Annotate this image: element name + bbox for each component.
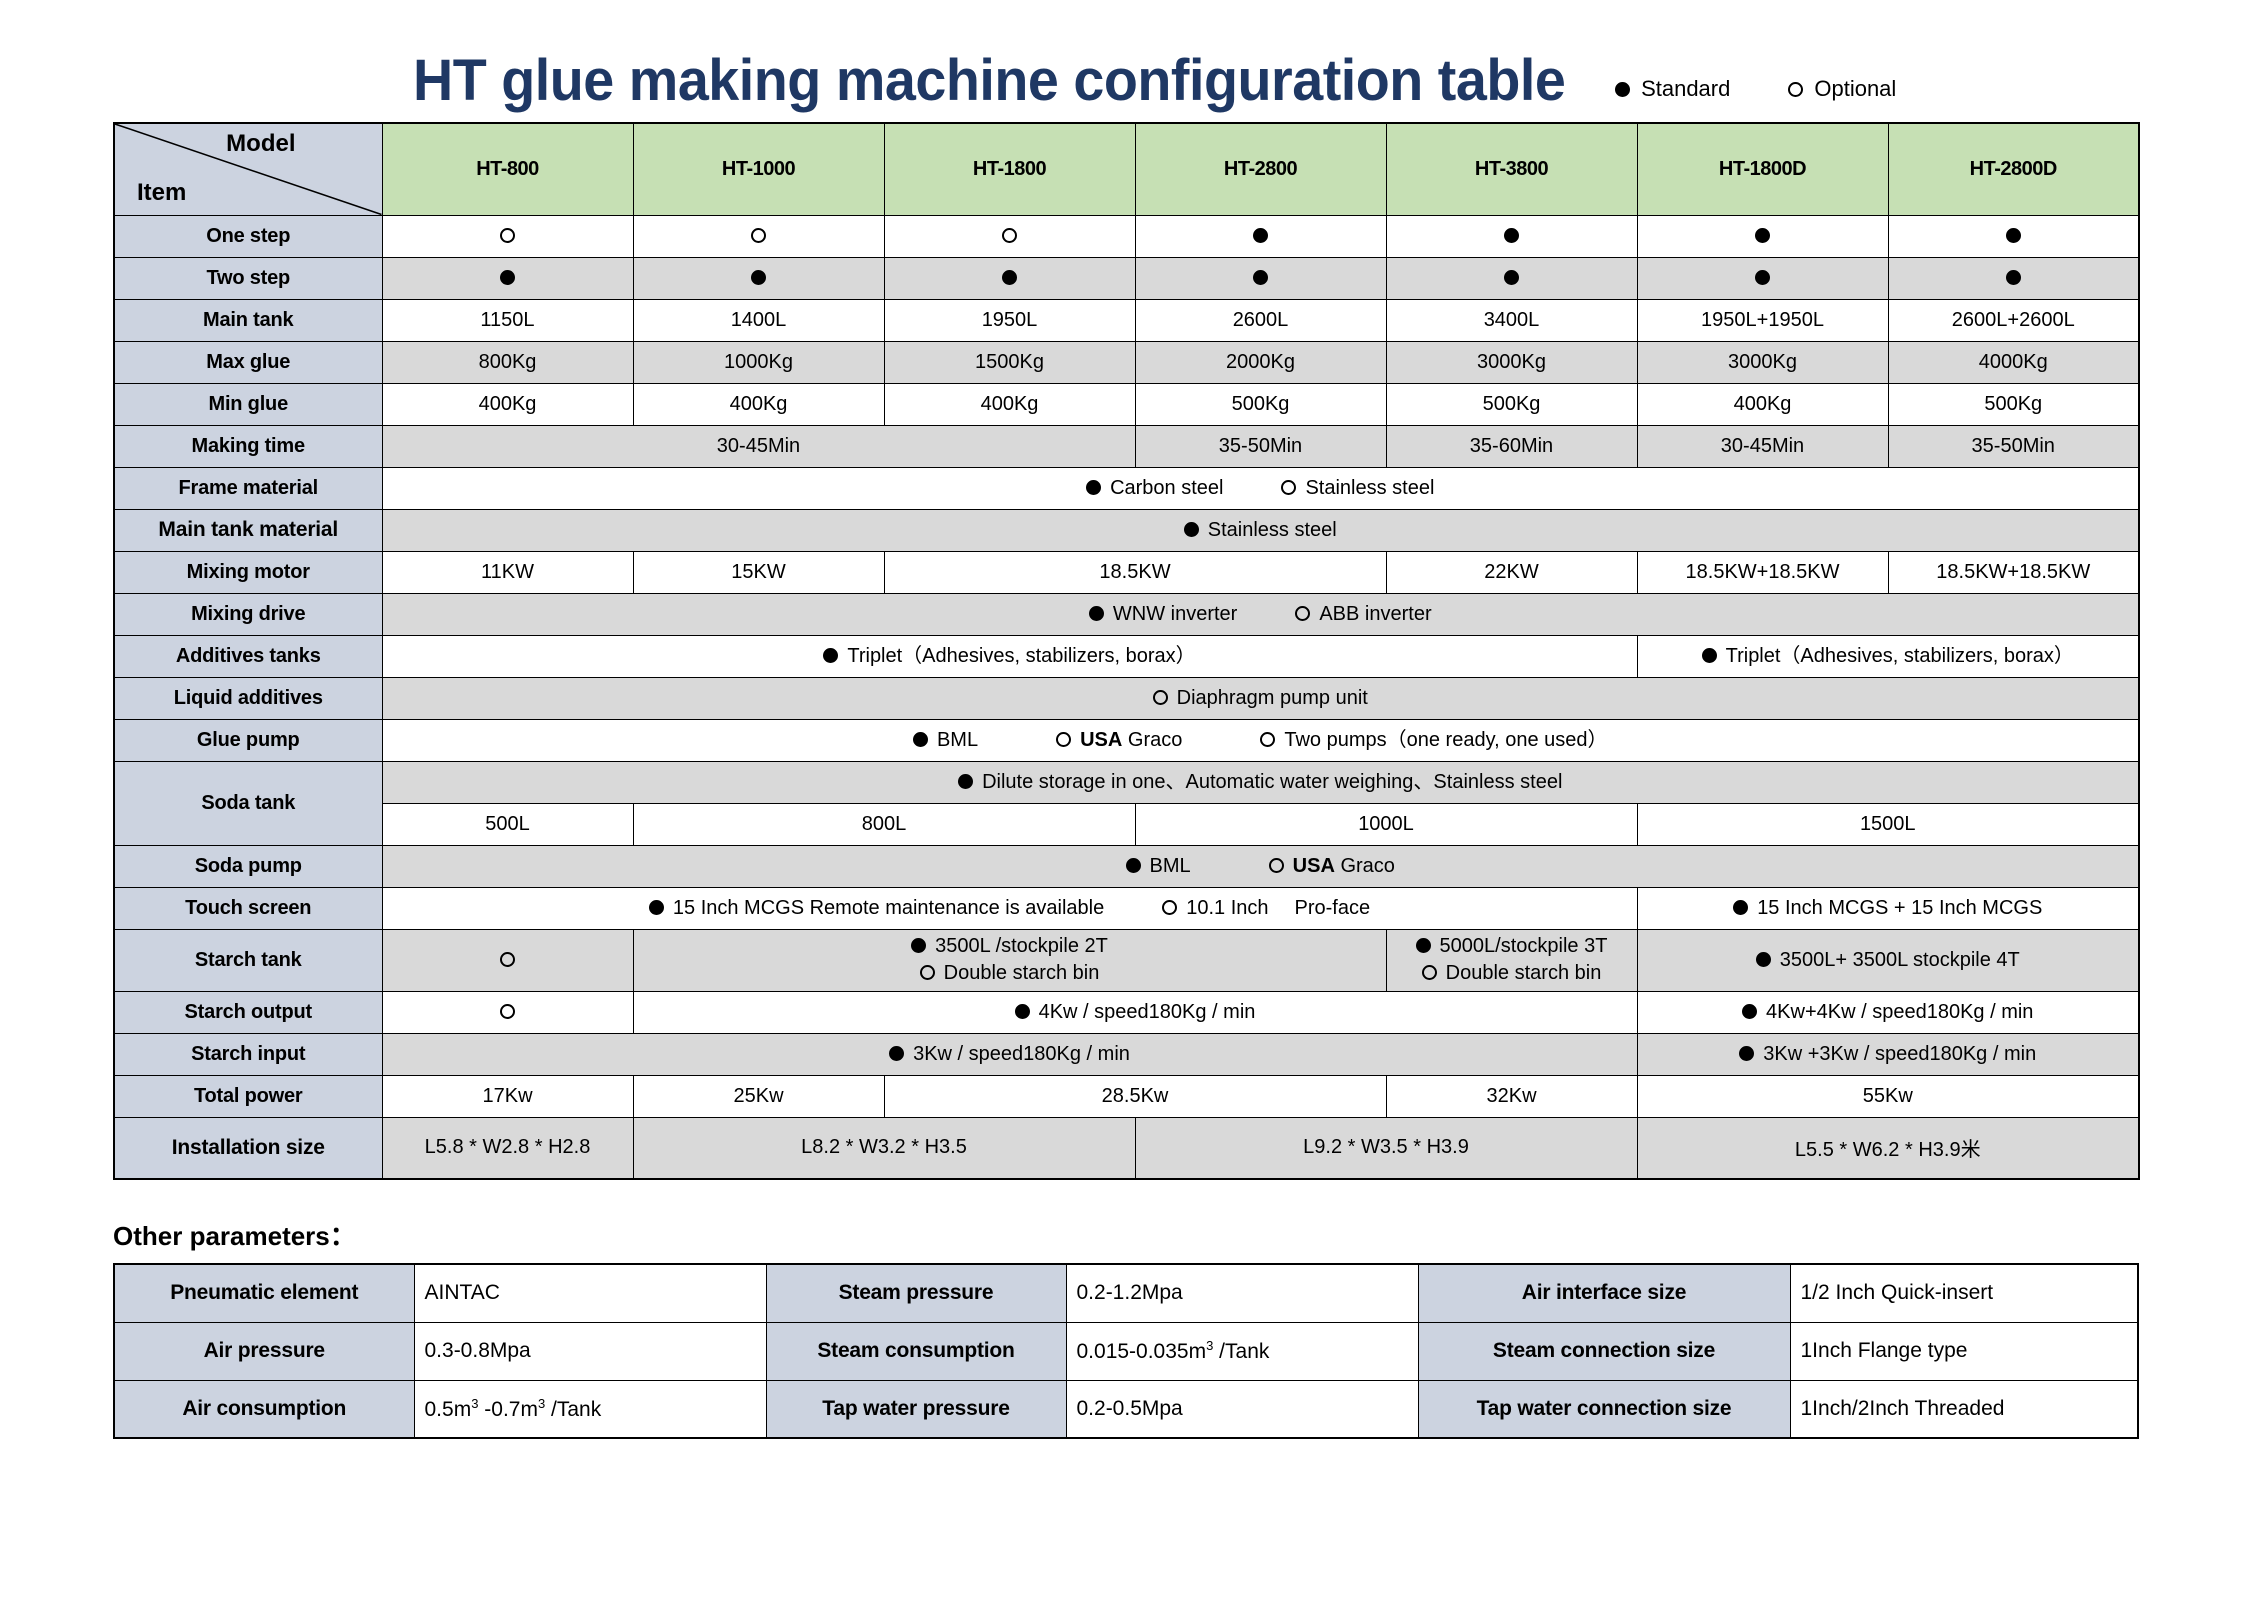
filled-circle-icon bbox=[911, 938, 926, 953]
filled-circle-icon bbox=[1755, 228, 1770, 243]
other-key-pneumatic-element: Pneumatic element bbox=[114, 1264, 414, 1322]
table-row-liquid-additives: Liquid additives Diaphragm pump unit bbox=[114, 677, 2139, 719]
other-row-2: Air pressure 0.3-0.8Mpa Steam consumptio… bbox=[114, 1322, 2138, 1380]
cell-min-glue-ht-2800: 500Kg bbox=[1135, 383, 1386, 425]
other-value-steam-pressure: 0.2-1.2Mpa bbox=[1066, 1264, 1418, 1322]
other-key-tap-water-pressure: Tap water pressure bbox=[766, 1380, 1066, 1438]
filled-circle-icon bbox=[913, 732, 928, 747]
row-label-mixing-motor: Mixing motor bbox=[114, 551, 382, 593]
filled-circle-icon bbox=[1755, 270, 1770, 285]
cell-installation-size-group-d: L5.5 * W6.2 * H3.9米 bbox=[1637, 1117, 2139, 1179]
cell-mixing-motor-ht-2800d: 18.5KW+18.5KW bbox=[1888, 551, 2139, 593]
cell-max-glue-ht-1800d: 3000Kg bbox=[1637, 341, 1888, 383]
cell-min-glue-ht-3800: 500Kg bbox=[1386, 383, 1637, 425]
open-circle-icon bbox=[1422, 965, 1437, 980]
other-value-tap-water-pressure: 0.2-0.5Mpa bbox=[1066, 1380, 1418, 1438]
additives-tanks-left-text: Triplet（Adhesives, stabilizers, borax） bbox=[847, 645, 1195, 667]
page-title: HT glue making machine configuration tab… bbox=[413, 52, 1565, 110]
starch-tank-right-text: 3500L+ 3500L stockpile 4T bbox=[1780, 949, 2020, 971]
filled-circle-icon bbox=[1184, 522, 1199, 537]
cell-max-glue-ht-2800: 2000Kg bbox=[1135, 341, 1386, 383]
cell-mixing-motor-ht-3800: 22KW bbox=[1386, 551, 1637, 593]
cell-starch-tank-right: 3500L+ 3500L stockpile 4T bbox=[1637, 929, 2139, 991]
model-header-ht-1800: HT-1800 bbox=[884, 123, 1135, 215]
cell-max-glue-ht-1000: 1000Kg bbox=[633, 341, 884, 383]
starch-tank-mid-line-1: 3500L /stockpile 2T bbox=[935, 935, 1108, 957]
filled-circle-icon bbox=[1416, 938, 1431, 953]
open-circle-icon bbox=[1281, 480, 1296, 495]
cell-max-glue-ht-2800d: 4000Kg bbox=[1888, 341, 2139, 383]
cell-installation-size-ht-800: L5.8 * W2.8 * H2.8 bbox=[382, 1117, 633, 1179]
cell-additives-tanks-right: Triplet（Adhesives, stabilizers, borax） bbox=[1637, 635, 2139, 677]
filled-circle-icon bbox=[1015, 1004, 1030, 1019]
other-value-air-interface-size: 1/2 Inch Quick-insert bbox=[1790, 1264, 2138, 1322]
table-row-additives-tanks: Additives tanks Triplet（Adhesives, stabi… bbox=[114, 635, 2139, 677]
soda-pump-option-bml: BML bbox=[1150, 855, 1191, 877]
filled-circle-icon bbox=[958, 774, 973, 789]
touch-screen-right-text: 15 Inch MCGS + 15 Inch MCGS bbox=[1757, 897, 2042, 919]
table-row-one-step: One step bbox=[114, 215, 2139, 257]
legend-item-standard: Standard bbox=[1615, 76, 1730, 102]
table-row-starch-output: Starch output 4Kw / speed180Kg / min 4Kw… bbox=[114, 991, 2139, 1033]
cell-starch-input-middle: 3Kw / speed180Kg / min bbox=[382, 1033, 1637, 1075]
other-key-steam-connection-size: Steam connection size bbox=[1418, 1322, 1790, 1380]
open-circle-icon bbox=[1056, 732, 1071, 747]
cell-main-tank-ht-1800: 1950L bbox=[884, 299, 1135, 341]
cell-two-step-ht-2800 bbox=[1135, 257, 1386, 299]
cell-max-glue-ht-800: 800Kg bbox=[382, 341, 633, 383]
cell-one-step-ht-2800d bbox=[1888, 215, 2139, 257]
cell-total-power-group-1800-2800: 28.5Kw bbox=[884, 1075, 1386, 1117]
table-row-glue-pump: Glue pump BMLUSA GracoTwo pumps（one read… bbox=[114, 719, 2139, 761]
legend-label-optional: Optional bbox=[1814, 76, 1896, 102]
legend-item-optional: Optional bbox=[1788, 76, 1896, 102]
cell-main-tank-ht-3800: 3400L bbox=[1386, 299, 1637, 341]
other-value-steam-consumption: 0.015-0.035m3 /Tank bbox=[1066, 1322, 1418, 1380]
starch-tank-3800-line-1: 5000L/stockpile 3T bbox=[1440, 935, 1608, 957]
open-circle-icon bbox=[1788, 82, 1803, 97]
additives-tanks-right-text: Triplet（Adhesives, stabilizers, borax） bbox=[1726, 645, 2074, 667]
row-label-frame-material: Frame material bbox=[114, 467, 382, 509]
filled-circle-icon bbox=[1756, 952, 1771, 967]
cell-installation-size-group-2800-3800: L9.2 * W3.5 * H3.9 bbox=[1135, 1117, 1637, 1179]
open-circle-icon bbox=[1260, 732, 1275, 747]
open-circle-icon bbox=[920, 965, 935, 980]
row-label-starch-input: Starch input bbox=[114, 1033, 382, 1075]
cell-one-step-ht-1800 bbox=[884, 215, 1135, 257]
filled-circle-icon bbox=[1086, 480, 1101, 495]
cell-two-step-ht-3800 bbox=[1386, 257, 1637, 299]
cell-starch-output-ht-800 bbox=[382, 991, 633, 1033]
other-value-air-pressure: 0.3-0.8Mpa bbox=[414, 1322, 766, 1380]
filled-circle-icon bbox=[1504, 270, 1519, 285]
open-circle-icon bbox=[500, 1004, 515, 1019]
cell-one-step-ht-800 bbox=[382, 215, 633, 257]
other-row-3: Air consumption 0.5m3 -0.7m3 /Tank Tap w… bbox=[114, 1380, 2138, 1438]
open-circle-icon bbox=[500, 952, 515, 967]
filled-circle-icon bbox=[1253, 270, 1268, 285]
cell-max-glue-ht-3800: 3000Kg bbox=[1386, 341, 1637, 383]
title-row: HT glue making machine configuration tab… bbox=[0, 0, 2245, 110]
other-key-steam-pressure: Steam pressure bbox=[766, 1264, 1066, 1322]
table-row-main-tank: Main tank 1150L 1400L 1950L 2600L 3400L … bbox=[114, 299, 2139, 341]
header-label-model: Model bbox=[226, 130, 295, 158]
open-circle-icon bbox=[751, 228, 766, 243]
row-label-main-tank: Main tank bbox=[114, 299, 382, 341]
model-header-ht-3800: HT-3800 bbox=[1386, 123, 1637, 215]
row-label-max-glue: Max glue bbox=[114, 341, 382, 383]
cell-soda-tank-group-2800-3800: 1000L bbox=[1135, 803, 1637, 845]
filled-circle-icon bbox=[1702, 648, 1717, 663]
cell-mixing-motor-ht-1000: 15KW bbox=[633, 551, 884, 593]
cell-total-power-ht-3800: 32Kw bbox=[1386, 1075, 1637, 1117]
soda-tank-description-text: Dilute storage in one、Automatic water we… bbox=[982, 771, 1562, 793]
table-row-main-tank-material: Main tank material Stainless steel bbox=[114, 509, 2139, 551]
legend: Standard Optional bbox=[1615, 76, 1896, 110]
cell-mixing-motor-group-1800-2800: 18.5KW bbox=[884, 551, 1386, 593]
cell-min-glue-ht-800: 400Kg bbox=[382, 383, 633, 425]
filled-circle-icon bbox=[1002, 270, 1017, 285]
open-circle-icon bbox=[1153, 690, 1168, 705]
cell-max-glue-ht-1800: 1500Kg bbox=[884, 341, 1135, 383]
cell-main-tank-ht-1800d: 1950L+1950L bbox=[1637, 299, 1888, 341]
row-label-soda-pump: Soda pump bbox=[114, 845, 382, 887]
model-header-ht-1000: HT-1000 bbox=[633, 123, 884, 215]
header-label-item: Item bbox=[137, 179, 186, 207]
cell-starch-tank-ht-800 bbox=[382, 929, 633, 991]
starch-tank-mid-line-2: Double starch bin bbox=[944, 962, 1100, 984]
filled-circle-icon bbox=[1733, 900, 1748, 915]
cell-two-step-ht-1000 bbox=[633, 257, 884, 299]
main-tank-material-option-stainless-steel: Stainless steel bbox=[1208, 519, 1337, 541]
cell-one-step-ht-2800 bbox=[1135, 215, 1386, 257]
filled-circle-icon bbox=[1615, 82, 1630, 97]
cell-main-tank-material: Stainless steel bbox=[382, 509, 2139, 551]
cell-mixing-motor-ht-1800d: 18.5KW+18.5KW bbox=[1637, 551, 1888, 593]
table-row-frame-material: Frame material Carbon steelStainless ste… bbox=[114, 467, 2139, 509]
row-label-starch-output: Starch output bbox=[114, 991, 382, 1033]
air-consumption-c: /Tank bbox=[545, 1398, 601, 1421]
other-key-steam-consumption: Steam consumption bbox=[766, 1322, 1066, 1380]
cell-touch-screen-right: 15 Inch MCGS + 15 Inch MCGS bbox=[1637, 887, 2139, 929]
cell-additives-tanks-left: Triplet（Adhesives, stabilizers, borax） bbox=[382, 635, 1637, 677]
open-circle-icon bbox=[1269, 858, 1284, 873]
table-row-soda-tank-desc: Soda tank Dilute storage in one、Automati… bbox=[114, 761, 2139, 803]
other-key-air-pressure: Air pressure bbox=[114, 1322, 414, 1380]
soda-pump-option-usa: USA bbox=[1293, 855, 1335, 877]
table-row-soda-tank-capacity: 500L 800L 1000L 1500L bbox=[114, 803, 2139, 845]
cell-main-tank-ht-800: 1150L bbox=[382, 299, 633, 341]
cell-main-tank-ht-1000: 1400L bbox=[633, 299, 884, 341]
cell-soda-tank-ht-800: 500L bbox=[382, 803, 633, 845]
cell-min-glue-ht-2800d: 500Kg bbox=[1888, 383, 2139, 425]
table-row-touch-screen: Touch screen 15 Inch MCGS Remote mainten… bbox=[114, 887, 2139, 929]
starch-input-right-text: 3Kw +3Kw / speed180Kg / min bbox=[1763, 1043, 2036, 1065]
cell-making-time-group-1: 30-45Min bbox=[382, 425, 1135, 467]
filled-circle-icon bbox=[1739, 1046, 1754, 1061]
cell-mixing-motor-ht-800: 11KW bbox=[382, 551, 633, 593]
model-header-ht-2800: HT-2800 bbox=[1135, 123, 1386, 215]
cell-two-step-ht-2800d bbox=[1888, 257, 2139, 299]
cell-total-power-ht-800: 17Kw bbox=[382, 1075, 633, 1117]
touch-screen-option-101inch: 10.1 Inch bbox=[1186, 897, 1268, 919]
filled-circle-icon bbox=[823, 648, 838, 663]
cell-soda-tank-description: Dilute storage in one、Automatic water we… bbox=[382, 761, 2139, 803]
row-label-two-step: Two step bbox=[114, 257, 382, 299]
row-label-min-glue: Min glue bbox=[114, 383, 382, 425]
cell-two-step-ht-1800 bbox=[884, 257, 1135, 299]
starch-tank-3800-line-2: Double starch bin bbox=[1446, 962, 1602, 984]
cell-making-time-ht-3800: 35-60Min bbox=[1386, 425, 1637, 467]
cell-installation-size-group-1000-1800: L8.2 * W3.2 * H3.5 bbox=[633, 1117, 1135, 1179]
legend-label-standard: Standard bbox=[1641, 76, 1730, 102]
cell-making-time-ht-2800d: 35-50Min bbox=[1888, 425, 2139, 467]
frame-material-option-carbon-steel: Carbon steel bbox=[1110, 477, 1223, 499]
table-row-installation-size: Installation size L5.8 * W2.8 * H2.8 L8.… bbox=[114, 1117, 2139, 1179]
cell-mixing-drive: WNW inverterABB inverter bbox=[382, 593, 2139, 635]
filled-circle-icon bbox=[2006, 228, 2021, 243]
other-key-air-consumption: Air consumption bbox=[114, 1380, 414, 1438]
cell-min-glue-ht-1000: 400Kg bbox=[633, 383, 884, 425]
steam-consumption-post: /Tank bbox=[1213, 1340, 1269, 1363]
row-label-additives-tanks: Additives tanks bbox=[114, 635, 382, 677]
table-row-two-step: Two step bbox=[114, 257, 2139, 299]
cell-one-step-ht-1800d bbox=[1637, 215, 1888, 257]
steam-consumption-pre: 0.015-0.035m bbox=[1077, 1340, 1207, 1363]
open-circle-icon bbox=[1162, 900, 1177, 915]
touch-screen-option-mcgs: 15 Inch MCGS Remote maintenance is avail… bbox=[673, 897, 1104, 919]
row-label-glue-pump: Glue pump bbox=[114, 719, 382, 761]
cell-making-time-ht-1800d: 30-45Min bbox=[1637, 425, 1888, 467]
cell-starch-tank-middle: 3500L /stockpile 2T Double starch bin bbox=[633, 929, 1386, 991]
model-header-ht-800: HT-800 bbox=[382, 123, 633, 215]
other-key-air-interface-size: Air interface size bbox=[1418, 1264, 1790, 1322]
other-value-steam-connection-size: 1Inch Flange type bbox=[1790, 1322, 2138, 1380]
header-corner-cell: Model Item bbox=[114, 123, 382, 215]
filled-circle-icon bbox=[1126, 858, 1141, 873]
open-circle-icon bbox=[500, 228, 515, 243]
cell-touch-screen-left: 15 Inch MCGS Remote maintenance is avail… bbox=[382, 887, 1637, 929]
filled-circle-icon bbox=[751, 270, 766, 285]
mixing-drive-option-abb: ABB inverter bbox=[1319, 603, 1431, 625]
cell-starch-output-middle: 4Kw / speed180Kg / min bbox=[633, 991, 1637, 1033]
cell-total-power-ht-1000: 25Kw bbox=[633, 1075, 884, 1117]
row-label-total-power: Total power bbox=[114, 1075, 382, 1117]
cell-two-step-ht-800 bbox=[382, 257, 633, 299]
row-label-starch-tank: Starch tank bbox=[114, 929, 382, 991]
air-consumption-a: 0.5m bbox=[425, 1398, 472, 1421]
table-row-starch-tank: Starch tank 3500L /stockpile 2T Double s… bbox=[114, 929, 2139, 991]
cell-min-glue-ht-1800: 400Kg bbox=[884, 383, 1135, 425]
filled-circle-icon bbox=[2006, 270, 2021, 285]
model-header-ht-2800d: HT-2800D bbox=[1888, 123, 2139, 215]
cell-soda-tank-group-1000-1800: 800L bbox=[633, 803, 1135, 845]
table-row-max-glue: Max glue 800Kg 1000Kg 1500Kg 2000Kg 3000… bbox=[114, 341, 2139, 383]
cell-making-time-ht-2800: 35-50Min bbox=[1135, 425, 1386, 467]
other-parameters-table: Pneumatic element AINTAC Steam pressure … bbox=[113, 1263, 2139, 1439]
glue-pump-option-two-pumps: Two pumps（one ready, one used） bbox=[1284, 729, 1607, 751]
table-row-total-power: Total power 17Kw 25Kw 28.5Kw 32Kw 55Kw bbox=[114, 1075, 2139, 1117]
table-row-making-time: Making time 30-45Min 35-50Min 35-60Min 3… bbox=[114, 425, 2139, 467]
configuration-table: Model Item HT-800 HT-1000 HT-1800 HT-280… bbox=[113, 122, 2140, 1180]
cell-two-step-ht-1800d bbox=[1637, 257, 1888, 299]
cell-starch-tank-ht-3800: 5000L/stockpile 3T Double starch bin bbox=[1386, 929, 1637, 991]
row-label-main-tank-material: Main tank material bbox=[114, 509, 382, 551]
liquid-additives-option-diaphragm: Diaphragm pump unit bbox=[1177, 687, 1368, 709]
configuration-table-wrap: Model Item HT-800 HT-1000 HT-1800 HT-280… bbox=[0, 110, 2245, 1180]
filled-circle-icon bbox=[889, 1046, 904, 1061]
table-row-starch-input: Starch input 3Kw / speed180Kg / min 3Kw … bbox=[114, 1033, 2139, 1075]
cell-min-glue-ht-1800d: 400Kg bbox=[1637, 383, 1888, 425]
cell-frame-material: Carbon steelStainless steel bbox=[382, 467, 2139, 509]
cell-soda-tank-group-d: 1500L bbox=[1637, 803, 2139, 845]
cell-soda-pump: BMLUSA Graco bbox=[382, 845, 2139, 887]
filled-circle-icon bbox=[500, 270, 515, 285]
filled-circle-icon bbox=[1742, 1004, 1757, 1019]
model-header-ht-1800d: HT-1800D bbox=[1637, 123, 1888, 215]
starch-input-mid-text: 3Kw / speed180Kg / min bbox=[913, 1043, 1130, 1065]
row-label-touch-screen: Touch screen bbox=[114, 887, 382, 929]
air-consumption-b: -0.7m bbox=[478, 1398, 538, 1421]
mixing-drive-option-wnw: WNW inverter bbox=[1113, 603, 1237, 625]
starch-output-mid-text: 4Kw / speed180Kg / min bbox=[1039, 1001, 1256, 1023]
row-label-liquid-additives: Liquid additives bbox=[114, 677, 382, 719]
filled-circle-icon bbox=[649, 900, 664, 915]
other-value-air-consumption: 0.5m3 -0.7m3 /Tank bbox=[414, 1380, 766, 1438]
glue-pump-option-bml: BML bbox=[937, 729, 978, 751]
row-label-soda-tank: Soda tank bbox=[114, 761, 382, 845]
other-value-pneumatic-element: AINTAC bbox=[414, 1264, 766, 1322]
table-row-mixing-motor: Mixing motor 11KW 15KW 18.5KW 22KW 18.5K… bbox=[114, 551, 2139, 593]
filled-circle-icon bbox=[1504, 228, 1519, 243]
cell-main-tank-ht-2800: 2600L bbox=[1135, 299, 1386, 341]
open-circle-icon bbox=[1002, 228, 1017, 243]
row-label-installation-size: Installation size bbox=[114, 1117, 382, 1179]
other-parameters-wrap: Pneumatic element AINTAC Steam pressure … bbox=[0, 1263, 2245, 1439]
frame-material-option-stainless-steel: Stainless steel bbox=[1305, 477, 1434, 499]
filled-circle-icon bbox=[1253, 228, 1268, 243]
table-header-row: Model Item HT-800 HT-1000 HT-1800 HT-280… bbox=[114, 123, 2139, 215]
cell-main-tank-ht-2800d: 2600L+2600L bbox=[1888, 299, 2139, 341]
glue-pump-option-graco: Graco bbox=[1128, 729, 1182, 751]
other-value-tap-water-connection-size: 1Inch/2Inch Threaded bbox=[1790, 1380, 2138, 1438]
cell-starch-input-right: 3Kw +3Kw / speed180Kg / min bbox=[1637, 1033, 2139, 1075]
cell-one-step-ht-3800 bbox=[1386, 215, 1637, 257]
cell-total-power-group-d: 55Kw bbox=[1637, 1075, 2139, 1117]
row-label-mixing-drive: Mixing drive bbox=[114, 593, 382, 635]
other-row-1: Pneumatic element AINTAC Steam pressure … bbox=[114, 1264, 2138, 1322]
soda-pump-option-graco: Graco bbox=[1340, 855, 1394, 877]
cell-starch-output-right: 4Kw+4Kw / speed180Kg / min bbox=[1637, 991, 2139, 1033]
page-root: HT glue making machine configuration tab… bbox=[0, 0, 2245, 1614]
filled-circle-icon bbox=[1089, 606, 1104, 621]
starch-output-right-text: 4Kw+4Kw / speed180Kg / min bbox=[1766, 1001, 2033, 1023]
glue-pump-option-usa: USA bbox=[1080, 729, 1122, 751]
row-label-one-step: One step bbox=[114, 215, 382, 257]
cell-one-step-ht-1000 bbox=[633, 215, 884, 257]
row-label-making-time: Making time bbox=[114, 425, 382, 467]
other-key-tap-water-connection-size: Tap water connection size bbox=[1418, 1380, 1790, 1438]
other-parameters-title: Other parameters： bbox=[0, 1180, 2245, 1263]
touch-screen-option-proface: Pro-face bbox=[1295, 897, 1371, 919]
open-circle-icon bbox=[1295, 606, 1310, 621]
table-row-min-glue: Min glue 400Kg 400Kg 400Kg 500Kg 500Kg 4… bbox=[114, 383, 2139, 425]
table-row-mixing-drive: Mixing drive WNW inverterABB inverter bbox=[114, 593, 2139, 635]
table-row-soda-pump: Soda pump BMLUSA Graco bbox=[114, 845, 2139, 887]
cell-glue-pump: BMLUSA GracoTwo pumps（one ready, one use… bbox=[382, 719, 2139, 761]
cell-liquid-additives: Diaphragm pump unit bbox=[382, 677, 2139, 719]
